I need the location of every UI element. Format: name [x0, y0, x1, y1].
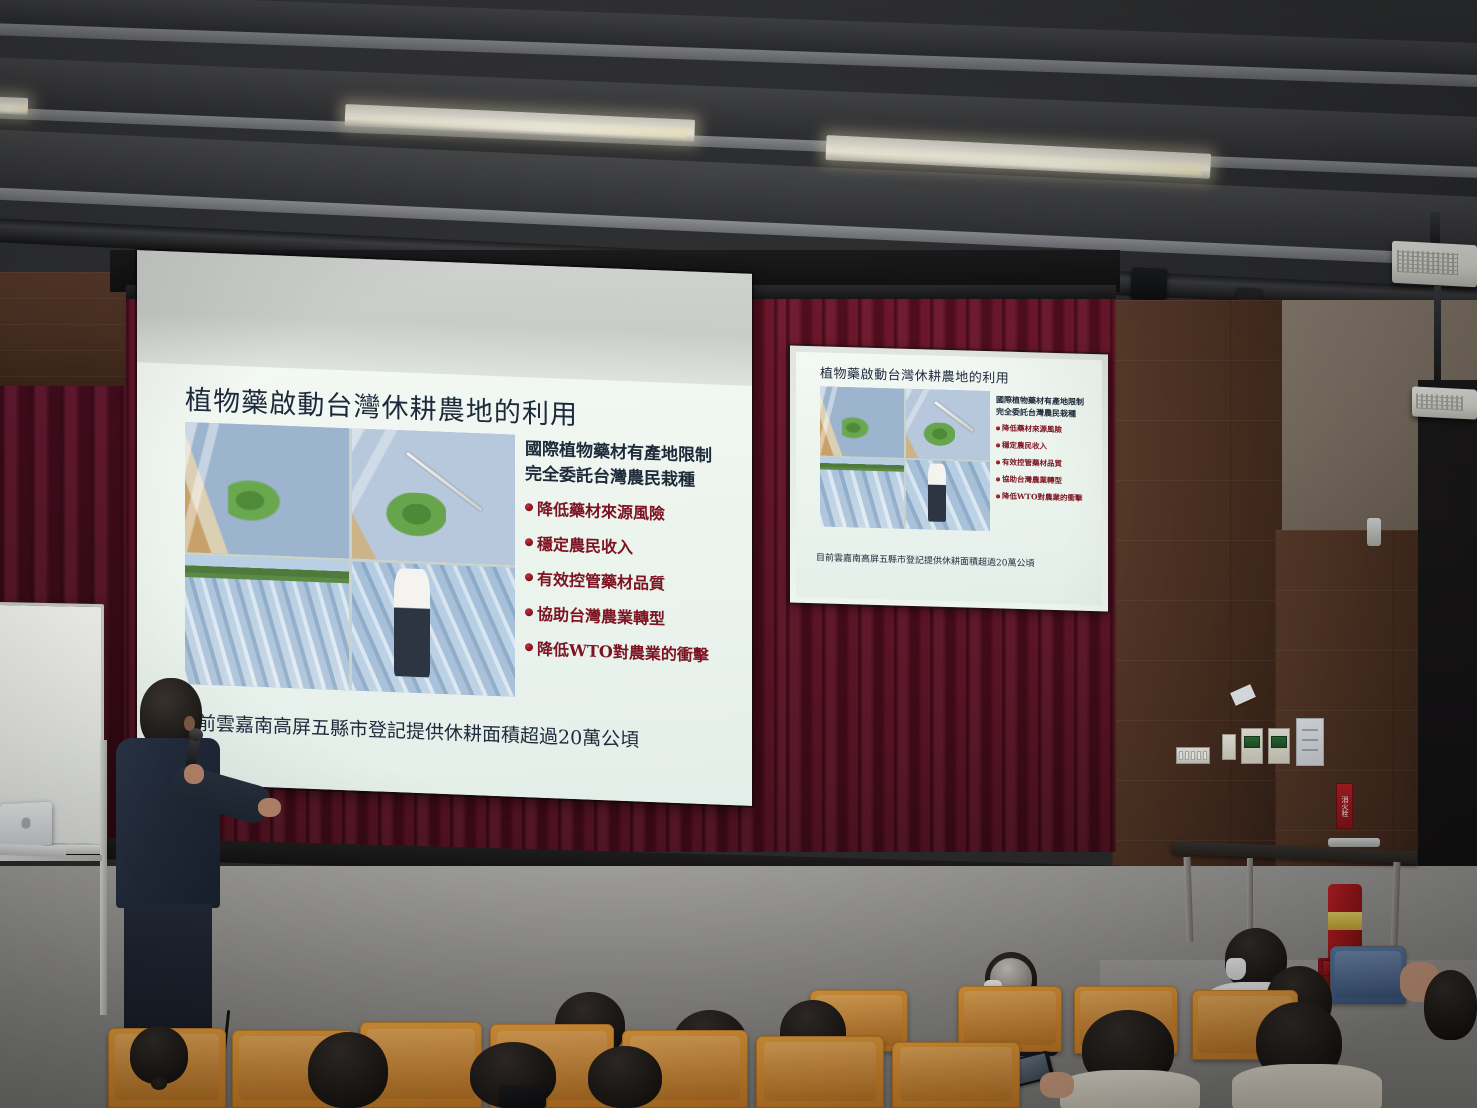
slide-photo-3 [185, 555, 349, 691]
side-bullet-label: 有效控管藥材品質 [1002, 456, 1062, 469]
audience-head [588, 1046, 662, 1108]
side-slide-caption: 目前雲嘉南高屏五縣市登記提供休耕面積超過20萬公頃 [816, 550, 1034, 569]
bullet-dot-icon [996, 494, 1000, 498]
wall-mounted-device [1367, 518, 1381, 546]
side-lead-line-2: 完全委託台灣農民栽種 [996, 405, 1102, 420]
ceiling-speaker [1130, 267, 1167, 301]
secondary-projection-screen: 植物藥啟動台灣休耕農地的利用 國際植物藥材有產地限制 完全委託台灣農民栽種 降低… [790, 346, 1108, 612]
slide-bullet-label: 有效控管藥材品質 [537, 566, 665, 595]
side-slide-photo-2 [906, 389, 990, 460]
side-slide-bullet: 協助台灣農業轉型 [996, 473, 1102, 487]
switch-toggle[interactable] [1197, 751, 1201, 760]
audience-seat[interactable] [756, 1036, 884, 1108]
hydrant-sign-label: 消火栓 [1341, 796, 1348, 817]
panel-display [1244, 736, 1259, 748]
bullet-dot-icon [525, 643, 533, 651]
slide-text-block: 國際植物藥材有產地限制 完全委託台灣農民栽種 降低藥材來源風險 穩定農民收入 有… [525, 437, 752, 668]
presenter-legs [124, 904, 212, 1046]
switch-toggle[interactable] [1185, 751, 1189, 760]
side-slide-bullet: 穩定農民收入 [996, 439, 1102, 453]
fire-hydrant-sign: 消火栓 [1336, 783, 1353, 829]
slide-bullet: 降低WTO對農業的衝擊 [525, 635, 752, 668]
slide-photo-4 [352, 561, 516, 697]
posted-notice [1296, 718, 1324, 766]
wall-control-panel[interactable] [1222, 734, 1236, 760]
slide-bullet: 協助台灣農業轉型 [525, 600, 752, 633]
ceiling-light-tube [0, 96, 28, 115]
ceiling-projector-secondary [1412, 386, 1477, 419]
audience-hand [1040, 1072, 1074, 1098]
wall-control-panel[interactable] [1268, 728, 1290, 764]
audience-shoulders [1232, 1064, 1382, 1108]
side-slide-photo-3 [820, 457, 904, 528]
side-bullet-label: 協助台灣農業轉型 [1002, 473, 1062, 486]
slide-bullet-label: 降低WTO對農業的衝擊 [537, 636, 709, 667]
audience-head [308, 1032, 388, 1108]
side-slide: 植物藥啟動台灣休耕農地的利用 國際植物藥材有產地限制 完全委託台灣農民栽種 降低… [796, 352, 1102, 606]
side-slide-photo-grid [820, 386, 990, 531]
bullet-dot-icon [996, 443, 1000, 447]
slide-bullet: 降低藥材來源風險 [525, 495, 752, 528]
side-bullet-label: 降低WTO對農業的衝擊 [1002, 490, 1083, 503]
audience-seat[interactable] [892, 1042, 1020, 1108]
light-switch-plate[interactable] [1176, 747, 1210, 764]
side-slide-bullet: 有效控管藥材品質 [996, 456, 1102, 470]
projector-mount-arm [1434, 286, 1441, 386]
switch-toggle[interactable] [1191, 751, 1195, 760]
bullet-dot-icon [996, 477, 1000, 481]
side-bullet-label: 穩定農民收入 [1002, 439, 1047, 451]
extinguisher-label [1328, 912, 1362, 930]
projector-vent [1416, 393, 1463, 411]
lecture-hall-scene: 植物藥啟動台灣休耕農地的利用 國際植物藥材有產地限制 完全委託台灣農民栽種 降低… [0, 0, 1477, 1108]
bullet-dot-icon [996, 460, 1000, 464]
table-item [1328, 838, 1380, 847]
switch-toggle[interactable] [1179, 751, 1183, 760]
side-bullet-label: 降低藥材來源風險 [1002, 422, 1062, 435]
apple-logo-icon [22, 817, 31, 828]
side-slide-bullet: 降低WTO對農業的衝擊 [996, 490, 1102, 504]
slide-bullet-label: 協助台灣農業轉型 [537, 601, 665, 630]
side-slide-photo-4 [906, 460, 990, 531]
slide-photo-2 [352, 428, 516, 564]
presenter-hand [258, 798, 281, 817]
presenter-torso [116, 738, 220, 908]
wall-control-panel[interactable] [1241, 728, 1263, 764]
slide-bullet-label: 降低藥材來源風險 [537, 496, 665, 525]
projector-vent [1397, 250, 1458, 275]
presenter-mic-hand [184, 764, 204, 784]
audience-seat[interactable] [1330, 946, 1406, 1004]
bullet-dot-icon [525, 608, 533, 616]
face-mask [1226, 958, 1246, 980]
whiteboard-leg [100, 740, 107, 1015]
slide-bullet: 有效控管藥材品質 [525, 565, 752, 598]
bullet-dot-icon [525, 538, 533, 546]
audience-shoulders [1060, 1070, 1200, 1108]
laptop[interactable] [0, 802, 52, 848]
slide-bullet: 穩定農民收入 [525, 530, 752, 563]
slide-bullet-label: 穩定農民收入 [537, 531, 633, 559]
side-slide-photo-1 [820, 386, 904, 457]
side-slide-bullet: 降低藥材來源風險 [996, 422, 1102, 436]
ceiling-projector [1392, 241, 1477, 287]
audience-head [1424, 970, 1477, 1040]
bullet-dot-icon [996, 426, 1000, 430]
audience-phone[interactable] [500, 1086, 546, 1108]
bullet-dot-icon [525, 503, 533, 511]
side-slide-title: 植物藥啟動台灣休耕農地的利用 [820, 362, 1009, 386]
presenter [110, 676, 300, 1046]
panel-display [1271, 736, 1286, 748]
bullet-dot-icon [525, 573, 533, 581]
audience-head [130, 1026, 188, 1084]
switch-toggle[interactable] [1203, 751, 1207, 760]
slide-photo-grid [185, 422, 515, 697]
side-slide-text-block: 國際植物藥材有產地限制 完全委託台灣農民栽種 降低藥材來源風險 穩定農民收入 有… [996, 393, 1102, 504]
slide-photo-1 [185, 422, 349, 558]
laptop-base [0, 844, 66, 858]
